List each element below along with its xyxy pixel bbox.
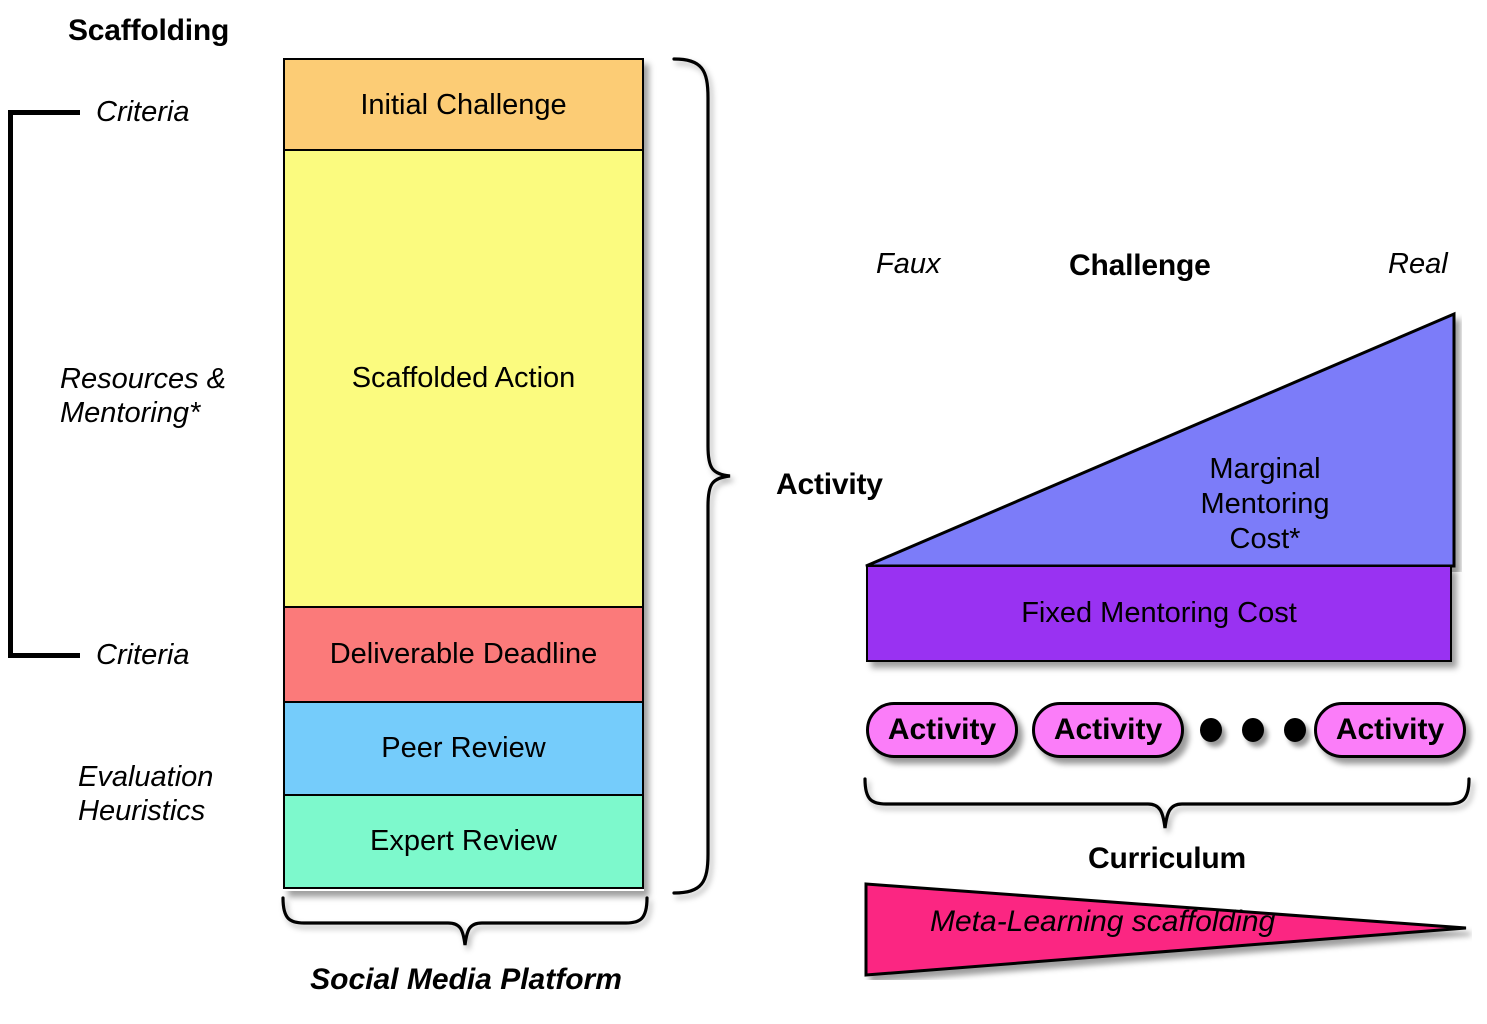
ellipsis-dot-icon <box>1242 718 1264 742</box>
marginal-label-line2: Mentoring <box>1140 487 1390 522</box>
stack-cell-label: Peer Review <box>381 732 545 765</box>
stack-cell-label: Expert Review <box>370 825 557 858</box>
marginal-label-line3: Cost* <box>1140 522 1390 557</box>
activity-brace <box>668 56 758 896</box>
stack-cell-deliverable-deadline[interactable]: Deliverable Deadline <box>283 606 644 703</box>
stack-cell-initial-challenge[interactable]: Initial Challenge <box>283 58 644 153</box>
activity-stack: Initial Challenge Scaffolded Action Deli… <box>283 58 644 891</box>
social-media-platform-brace <box>280 895 650 955</box>
fixed-mentoring-cost-label: Fixed Mentoring Cost <box>1021 597 1297 630</box>
stack-cell-scaffolded-action[interactable]: Scaffolded Action <box>283 149 644 608</box>
criteria-bracket-top-arm <box>8 110 80 115</box>
label-evaluation-heuristics: Evaluation Heuristics <box>78 760 268 828</box>
marginal-mentoring-cost-label: Marginal Mentoring Cost* <box>1140 452 1390 556</box>
stack-cell-label: Initial Challenge <box>360 89 566 122</box>
label-evaluation-line1: Evaluation <box>78 760 268 794</box>
activity-pill-label: Activity <box>1336 713 1444 747</box>
label-criteria-top: Criteria <box>96 95 189 129</box>
activity-pill-3[interactable]: Activity <box>1314 702 1466 758</box>
label-resources-line2: Mentoring* <box>60 396 260 430</box>
page-title: Scaffolding <box>68 14 229 48</box>
curriculum-label: Curriculum <box>862 842 1472 876</box>
stack-cell-label: Scaffolded Action <box>352 362 576 395</box>
social-media-platform-label: Social Media Platform <box>281 963 651 997</box>
stack-cell-label: Deliverable Deadline <box>330 638 598 671</box>
activity-pill-label: Activity <box>888 713 996 747</box>
axis-label-real: Real <box>1388 247 1448 281</box>
stack-cell-peer-review[interactable]: Peer Review <box>283 701 644 796</box>
axis-label-faux: Faux <box>876 247 940 281</box>
criteria-bracket-bottom-arm <box>8 653 80 658</box>
label-resources-mentoring: Resources & Mentoring* <box>60 362 260 430</box>
label-evaluation-line2: Heuristics <box>78 794 268 828</box>
activity-pill-1[interactable]: Activity <box>866 702 1018 758</box>
activity-pill-2[interactable]: Activity <box>1032 702 1184 758</box>
label-criteria-bottom: Criteria <box>96 638 189 672</box>
stack-cell-expert-review[interactable]: Expert Review <box>283 794 644 889</box>
axis-title-challenge: Challenge <box>1069 249 1211 283</box>
fixed-mentoring-cost-bar[interactable]: Fixed Mentoring Cost <box>866 565 1452 662</box>
meta-learning-scaffolding-label: Meta-Learning scaffolding <box>930 905 1275 939</box>
ellipsis-dot-icon <box>1284 718 1306 742</box>
ellipsis-dot-icon <box>1200 718 1222 742</box>
criteria-bracket-vertical <box>8 110 13 658</box>
marginal-label-line1: Marginal <box>1140 452 1390 487</box>
label-resources-line1: Resources & <box>60 362 260 396</box>
activity-pill-label: Activity <box>1054 713 1162 747</box>
curriculum-brace <box>862 776 1472 836</box>
